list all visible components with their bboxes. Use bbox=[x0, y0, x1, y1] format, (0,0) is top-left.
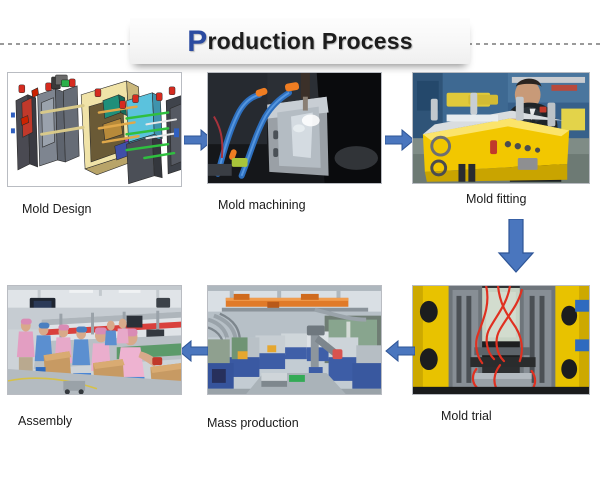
mold-machining-photo bbox=[208, 73, 381, 184]
step-image-mold-fitting[interactable] bbox=[412, 72, 590, 184]
page-title-rest: roduction Process bbox=[207, 28, 412, 54]
arrow-down-icon bbox=[496, 219, 536, 273]
step-caption-mold-fitting: Mold fitting bbox=[466, 192, 526, 206]
arrow-fitting-to-trial bbox=[496, 219, 536, 273]
step-image-mass-production[interactable] bbox=[207, 285, 382, 395]
step-image-mold-design[interactable] bbox=[7, 72, 182, 187]
step-caption-assembly: Assembly bbox=[18, 414, 72, 428]
arrow-left-icon bbox=[385, 339, 415, 363]
step-caption-mold-machining: Mold machining bbox=[218, 198, 306, 212]
mold-design-cad-illustration bbox=[8, 73, 181, 187]
left-dotted-connector bbox=[0, 43, 132, 45]
arrow-left-icon bbox=[178, 339, 208, 363]
step-image-mold-machining[interactable] bbox=[207, 72, 382, 184]
title-banner: Production Process bbox=[130, 18, 470, 64]
step-caption-mold-design: Mold Design bbox=[22, 202, 91, 216]
step-caption-mold-trial: Mold trial bbox=[441, 409, 492, 423]
page-title-initial: P bbox=[187, 25, 207, 58]
arrow-mass-to-assembly bbox=[178, 339, 208, 363]
mass-production-photo bbox=[208, 286, 381, 395]
step-image-assembly[interactable] bbox=[7, 285, 182, 395]
step-caption-mass-production: Mass production bbox=[207, 416, 299, 430]
page-title: Production Process bbox=[187, 28, 413, 55]
step-image-mold-trial[interactable] bbox=[412, 285, 590, 395]
mold-trial-photo bbox=[413, 286, 589, 395]
title-banner-area: Production Process bbox=[0, 8, 600, 64]
arrow-right-icon bbox=[385, 128, 415, 152]
production-process-infographic: Production Process bbox=[0, 0, 600, 501]
mold-fitting-photo bbox=[413, 73, 589, 184]
assembly-photo bbox=[8, 286, 181, 395]
arrow-machining-to-fitting bbox=[385, 128, 415, 152]
arrow-trial-to-mass bbox=[385, 339, 415, 363]
right-dotted-connector bbox=[468, 43, 600, 45]
